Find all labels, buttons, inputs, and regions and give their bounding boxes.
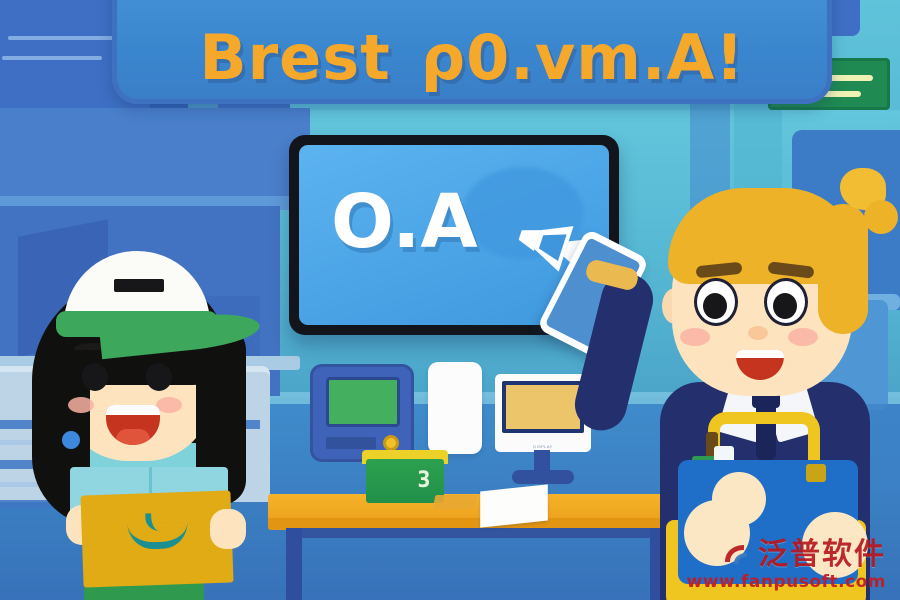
desk-paper-sheet: [480, 484, 548, 527]
illustration-scene: Brestρ0.vm.A! O.A DISPLAY: [0, 0, 900, 600]
desk-card: [433, 495, 478, 509]
girl-student: [10, 255, 270, 600]
retro-computer: [310, 364, 414, 462]
girl-hair-clip: [62, 431, 80, 449]
banner-title: Brestρ0.vm.A!: [199, 27, 744, 89]
desk-apron: [286, 528, 666, 538]
boy-hair-tuft-secondary: [864, 200, 898, 234]
boy-cheek-right: [788, 328, 818, 346]
monitor-stand-base: [512, 470, 574, 484]
boy-pupil-left: [703, 293, 727, 319]
girl-hand-right: [210, 509, 246, 549]
girl-tongue: [116, 429, 150, 445]
monitor-screen: [502, 381, 584, 433]
retro-computer-screen: [326, 377, 400, 427]
boy-pupil-right: [773, 293, 797, 319]
boy-student: [620, 160, 900, 600]
title-banner: Brestρ0.vm.A!: [112, 0, 832, 104]
display-screen-text: O.A: [331, 185, 478, 259]
banner-title-part2: ρ0.vm.A!: [421, 21, 745, 94]
girl-cheek-left: [68, 397, 94, 413]
desk-leg-left: [286, 528, 302, 600]
tablet-device: [428, 362, 482, 454]
monitor-brand-label: DISPLAY: [495, 444, 591, 449]
girl-cap-slot: [114, 279, 164, 292]
boy-hand-left: [684, 500, 750, 566]
retro-computer-knob: [383, 435, 399, 451]
cabinet-middle: [0, 108, 310, 200]
boy-nose: [748, 326, 768, 340]
banner-title-part1: Brest: [199, 21, 390, 94]
boy-eye-left: [694, 278, 738, 326]
retro-computer-slot: [326, 437, 376, 449]
bag-clip: [806, 464, 826, 482]
green-box-mark: З: [418, 468, 431, 493]
boy-teeth: [736, 350, 784, 358]
girl-eye-right: [146, 363, 172, 391]
boy-hand-right: [802, 512, 868, 578]
green-box: З: [366, 459, 444, 503]
boy-cheek-left: [680, 328, 710, 346]
boy-eye-right: [764, 278, 808, 326]
girl-teeth: [106, 405, 160, 415]
girl-eye-left: [82, 363, 108, 391]
